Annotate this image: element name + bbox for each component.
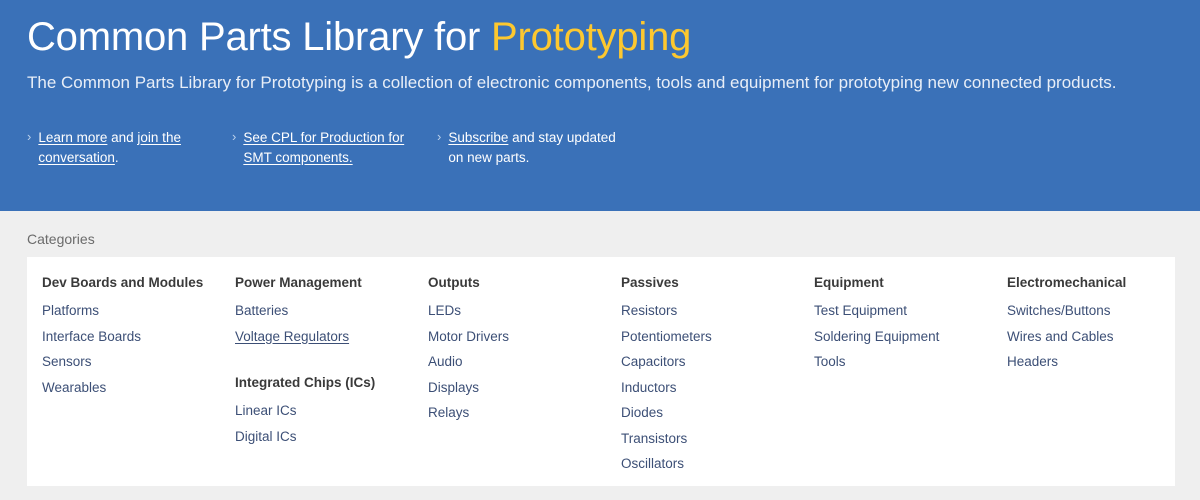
page-title-main: Common Parts Library for [27, 15, 491, 59]
category-group: Integrated Chips (ICs)Linear ICsDigital … [235, 375, 428, 449]
category-column: Dev Boards and ModulesPlatformsInterface… [42, 275, 235, 477]
hero-inline-link[interactable]: See CPL for Production for SMT component… [243, 130, 404, 165]
category-group: EquipmentTest EquipmentSoldering Equipme… [814, 275, 1007, 375]
hero-link-learn-more[interactable]: › Learn more and join the conversation. [27, 128, 232, 167]
chevron-right-icon: › [27, 128, 31, 147]
category-item[interactable]: Displays [428, 375, 621, 401]
category-item[interactable]: Headers [1007, 349, 1200, 375]
category-item[interactable]: Wires and Cables [1007, 324, 1200, 350]
category-group: PassivesResistorsPotentiometersCapacitor… [621, 275, 814, 477]
category-group: ElectromechanicalSwitches/ButtonsWires a… [1007, 275, 1200, 375]
category-item[interactable]: Tools [814, 349, 1007, 375]
category-column: PassivesResistorsPotentiometersCapacitor… [621, 275, 814, 477]
category-item[interactable]: Soldering Equipment [814, 324, 1007, 350]
category-item[interactable]: Oscillators [621, 451, 814, 477]
category-group-title: Power Management [235, 275, 428, 290]
category-column: EquipmentTest EquipmentSoldering Equipme… [814, 275, 1007, 477]
category-item[interactable]: Interface Boards [42, 324, 235, 350]
category-item[interactable]: Motor Drivers [428, 324, 621, 350]
categories-card: Dev Boards and ModulesPlatformsInterface… [27, 257, 1175, 486]
hero-inline-link[interactable]: Learn more [38, 130, 107, 145]
hero-inline-text: and [107, 130, 137, 145]
category-item[interactable]: Sensors [42, 349, 235, 375]
hero-link-list: › Learn more and join the conversation. … [27, 128, 657, 167]
category-column: ElectromechanicalSwitches/ButtonsWires a… [1007, 275, 1200, 477]
chevron-right-icon: › [232, 128, 236, 147]
category-column: OutputsLEDsMotor DriversAudioDisplaysRel… [428, 275, 621, 477]
hero-banner: Common Parts Library for Prototyping The… [0, 0, 1200, 211]
category-group-title: Electromechanical [1007, 275, 1200, 290]
hero-subtitle: The Common Parts Library for Prototyping… [27, 71, 1167, 94]
category-group-title: Equipment [814, 275, 1007, 290]
category-item[interactable]: LEDs [428, 298, 621, 324]
hero-link-text: Learn more and join the conversation. [38, 128, 208, 167]
category-column: Power ManagementBatteriesVoltage Regulat… [235, 275, 428, 477]
category-group: Power ManagementBatteriesVoltage Regulat… [235, 275, 428, 349]
category-item[interactable]: Linear ICs [235, 398, 428, 424]
category-item[interactable]: Platforms [42, 298, 235, 324]
hero-link-text: See CPL for Production for SMT component… [243, 128, 413, 167]
category-item[interactable]: Batteries [235, 298, 428, 324]
category-item[interactable]: Diodes [621, 400, 814, 426]
categories-label: Categories [27, 231, 95, 247]
category-item[interactable]: Resistors [621, 298, 814, 324]
category-group-title: Dev Boards and Modules [42, 275, 235, 290]
category-item[interactable]: Switches/Buttons [1007, 298, 1200, 324]
category-item[interactable]: Transistors [621, 426, 814, 452]
hero-link-subscribe[interactable]: › Subscribe and stay updated on new part… [437, 128, 657, 167]
category-group-title: Outputs [428, 275, 621, 290]
page-title-accent: Prototyping [491, 15, 691, 59]
category-columns: Dev Boards and ModulesPlatformsInterface… [27, 257, 1175, 477]
category-group-title: Integrated Chips (ICs) [235, 375, 428, 390]
category-item[interactable]: Potentiometers [621, 324, 814, 350]
category-item[interactable]: Capacitors [621, 349, 814, 375]
hero-link-text: Subscribe and stay updated on new parts. [448, 128, 618, 167]
hero-link-cpl-production[interactable]: › See CPL for Production for SMT compone… [232, 128, 437, 167]
category-item[interactable]: Relays [428, 400, 621, 426]
category-group: Dev Boards and ModulesPlatformsInterface… [42, 275, 235, 400]
category-item[interactable]: Audio [428, 349, 621, 375]
category-item[interactable]: Digital ICs [235, 424, 428, 450]
page-title: Common Parts Library for Prototyping [27, 14, 1200, 61]
category-item[interactable]: Voltage Regulators [235, 324, 428, 350]
category-group-title: Passives [621, 275, 814, 290]
category-item[interactable]: Inductors [621, 375, 814, 401]
category-item[interactable]: Wearables [42, 375, 235, 401]
chevron-right-icon: › [437, 128, 441, 147]
category-group: OutputsLEDsMotor DriversAudioDisplaysRel… [428, 275, 621, 426]
hero-inline-text: . [115, 150, 119, 165]
hero-inline-link[interactable]: Subscribe [448, 130, 508, 145]
category-item[interactable]: Test Equipment [814, 298, 1007, 324]
